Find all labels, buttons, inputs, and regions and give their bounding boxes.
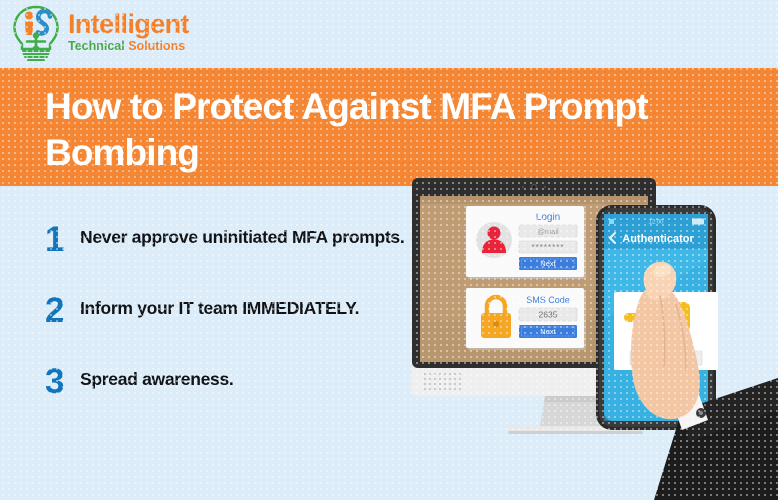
- brand-logo[interactable]: Intelligent Technical Solutions: [10, 4, 189, 62]
- sms-code-card: SMS Code 2635 Next: [466, 288, 586, 350]
- list-item: 1 Never approve uninitiated MFA prompts.: [45, 222, 405, 257]
- sms-code-field-value: 2635: [539, 310, 558, 320]
- email-field-placeholder: @mail: [537, 227, 559, 236]
- logo-bar: Intelligent Technical Solutions: [0, 0, 778, 68]
- list-item-number: 2: [45, 293, 69, 328]
- page-title: How to Protect Against MFA Prompt Bombin…: [45, 84, 685, 177]
- monitor-base-shadow: [508, 431, 643, 434]
- list-item-number: 3: [45, 364, 69, 399]
- sms-card-title: SMS Code: [526, 295, 570, 305]
- brand-tagline-word-2: Solutions: [128, 39, 185, 53]
- password-field-value: ********: [532, 243, 565, 252]
- signal-icon: [609, 219, 614, 224]
- list-item-label: Inform your IT team IMMEDIATELY.: [80, 293, 359, 319]
- sms-next-button-label: Next: [540, 327, 556, 336]
- list-item: 2 Inform your IT team IMMEDIATELY.: [45, 293, 405, 328]
- lightbulb-logo-icon: [10, 4, 62, 62]
- brand-wordmark: Intelligent Technical Solutions: [68, 11, 189, 55]
- title-banner: How to Protect Against MFA Prompt Bombin…: [0, 68, 778, 186]
- webcam-indicator-right-icon: [544, 186, 546, 188]
- phone-status-time: 12:00: [648, 220, 664, 226]
- webcam-lens-icon: [533, 186, 536, 189]
- battery-icon: [692, 219, 704, 225]
- list-item-label: Never approve uninitiated MFA prompts.: [80, 222, 404, 248]
- infographic-canvas: Intelligent Technical Solutions How to P…: [0, 0, 778, 500]
- brand-tagline-word-1: Technical: [68, 39, 125, 53]
- login-next-button-label: Next: [540, 259, 556, 268]
- list-item-number: 1: [45, 222, 69, 257]
- mfa-illustration: Login @mail ******** Ne: [396, 170, 778, 500]
- brand-tagline: Technical Solutions: [68, 40, 189, 53]
- list-item: 3 Spread awareness.: [45, 364, 405, 399]
- phone-app-title: Authenticator: [622, 233, 694, 245]
- illustration-svg: Login @mail ******** Ne: [396, 170, 778, 500]
- cufflink-button-inner-icon: [699, 411, 703, 415]
- tips-list: 1 Never approve uninitiated MFA prompts.…: [45, 222, 405, 399]
- login-card: Login @mail ******** Ne: [466, 206, 586, 279]
- webcam-indicator-left-icon: [522, 186, 524, 188]
- list-item-label: Spread awareness.: [80, 364, 233, 390]
- wallpaper-band-top: [420, 196, 648, 204]
- brand-name: Intelligent: [68, 11, 189, 38]
- login-card-title: Login: [536, 212, 560, 223]
